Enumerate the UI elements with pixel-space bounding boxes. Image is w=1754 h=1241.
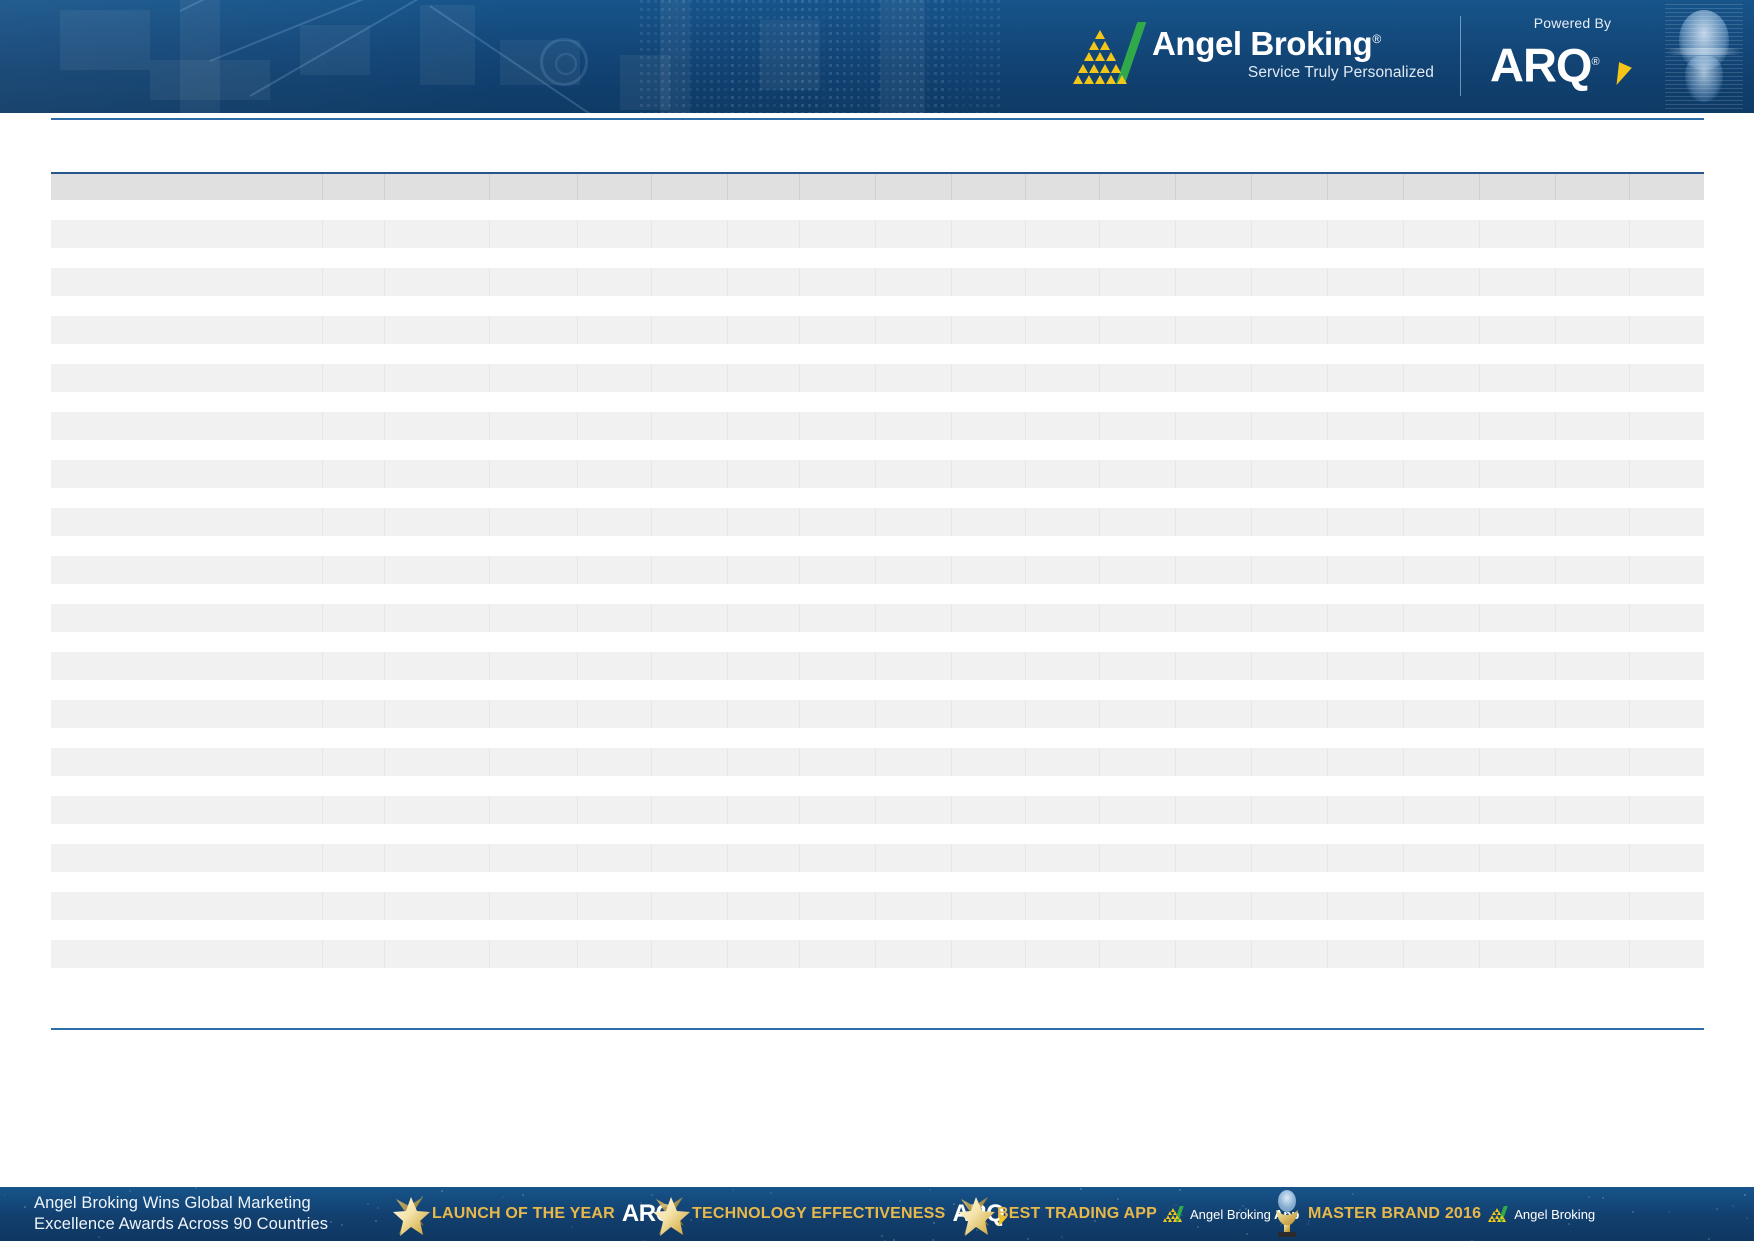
arq-trademark: ® [1591,56,1598,68]
column-divider-8 [951,892,952,920]
column-divider-10 [1099,748,1100,776]
column-divider-16 [1555,748,1556,776]
table-row-gap [51,776,1704,796]
award-badge: MASTER BRAND 2016Angel Broking [1268,1187,1440,1241]
column-divider-7 [875,796,876,824]
column-divider-13 [1327,556,1328,584]
column-divider-12 [1251,460,1252,488]
column-divider-5 [727,748,728,776]
column-divider-17 [1629,892,1630,920]
column-divider-7 [875,844,876,872]
column-divider-17 [1629,844,1630,872]
arq-block: Powered By ARQ® [1490,14,1670,92]
column-divider-11 [1175,220,1176,248]
column-divider-8 [951,940,952,968]
column-divider-6 [799,748,800,776]
column-divider-10 [1099,460,1100,488]
column-divider-3 [577,364,578,392]
column-divider-12 [1251,174,1252,200]
column-divider-17 [1629,652,1630,680]
column-divider-12 [1251,220,1252,248]
column-divider-0 [322,604,323,632]
table-row[interactable] [51,556,1704,584]
logo-triangle-unit [1095,75,1105,84]
logo-triangle-unit [1106,75,1116,84]
column-divider-10 [1099,892,1100,920]
column-divider-9 [1025,220,1026,248]
column-divider-11 [1175,508,1176,536]
column-divider-3 [577,412,578,440]
column-divider-9 [1025,604,1026,632]
column-divider-6 [799,508,800,536]
column-divider-12 [1251,748,1252,776]
column-divider-9 [1025,700,1026,728]
column-divider-8 [951,556,952,584]
column-divider-9 [1025,748,1026,776]
column-divider-4 [651,508,652,536]
column-divider-5 [727,796,728,824]
table-row-gap [51,200,1704,220]
column-divider-5 [727,220,728,248]
column-divider-9 [1025,844,1026,872]
column-divider-12 [1251,844,1252,872]
column-divider-9 [1025,316,1026,344]
column-divider-14 [1403,268,1404,296]
table-row-gap [51,488,1704,508]
column-divider-1 [384,748,385,776]
column-divider-17 [1629,796,1630,824]
column-divider-16 [1555,316,1556,344]
column-divider-2 [489,364,490,392]
column-divider-16 [1555,796,1556,824]
column-divider-9 [1025,508,1026,536]
column-divider-10 [1099,316,1100,344]
column-divider-4 [651,174,652,200]
column-divider-17 [1629,174,1630,200]
column-divider-12 [1251,316,1252,344]
header-circle-decoration [540,38,588,86]
column-divider-12 [1251,940,1252,968]
angel-broking-triangle-logo [1080,22,1142,82]
column-divider-3 [577,460,578,488]
column-divider-11 [1175,652,1176,680]
column-divider-0 [322,556,323,584]
column-divider-7 [875,364,876,392]
column-divider-16 [1555,412,1556,440]
column-divider-10 [1099,652,1100,680]
column-divider-14 [1403,796,1404,824]
table-row-gap [51,584,1704,604]
column-divider-9 [1025,174,1026,200]
column-divider-8 [951,268,952,296]
column-divider-13 [1327,268,1328,296]
column-divider-6 [799,220,800,248]
column-divider-9 [1025,652,1026,680]
table-row[interactable] [51,652,1704,680]
column-divider-4 [651,412,652,440]
brand-tagline: Service Truly Personalized [1152,63,1434,83]
column-divider-7 [875,268,876,296]
column-divider-3 [577,652,578,680]
footer-headline: Angel Broking Wins Global Marketing Exce… [34,1193,374,1235]
column-divider-16 [1555,892,1556,920]
column-divider-5 [727,412,728,440]
column-divider-13 [1327,940,1328,968]
column-divider-6 [799,364,800,392]
column-divider-16 [1555,844,1556,872]
column-divider-7 [875,700,876,728]
column-divider-12 [1251,604,1252,632]
column-divider-2 [489,940,490,968]
column-divider-15 [1479,174,1480,200]
table-row-gap [51,344,1704,364]
column-divider-0 [322,364,323,392]
logo-triangle-unit [1117,75,1127,84]
column-divider-8 [951,604,952,632]
column-divider-15 [1479,748,1480,776]
column-divider-6 [799,174,800,200]
column-divider-0 [322,796,323,824]
column-divider-5 [727,364,728,392]
column-divider-0 [322,316,323,344]
column-divider-7 [875,748,876,776]
table-row[interactable] [51,748,1704,776]
column-divider-0 [322,412,323,440]
column-divider-6 [799,796,800,824]
brand-name: Angel Broking® [1152,20,1452,63]
column-divider-17 [1629,940,1630,968]
mini-logo-triangle-unit [1168,1218,1172,1222]
column-divider-12 [1251,892,1252,920]
mini-logo-triangle-unit [1178,1218,1182,1222]
column-divider-13 [1327,748,1328,776]
table-row[interactable] [51,508,1704,536]
column-divider-8 [951,460,952,488]
table-row[interactable] [51,700,1704,728]
column-divider-8 [951,174,952,200]
column-divider-1 [384,364,385,392]
column-divider-16 [1555,364,1556,392]
column-divider-4 [651,316,652,344]
column-divider-17 [1629,220,1630,248]
column-divider-12 [1251,412,1252,440]
column-divider-1 [384,892,385,920]
column-divider-2 [489,796,490,824]
column-divider-16 [1555,940,1556,968]
table-row-gap [51,248,1704,268]
column-divider-0 [322,892,323,920]
column-divider-9 [1025,364,1026,392]
column-divider-11 [1175,412,1176,440]
column-divider-10 [1099,412,1100,440]
column-divider-11 [1175,268,1176,296]
logo-triangle-unit [1100,64,1110,73]
column-divider-14 [1403,220,1404,248]
column-divider-15 [1479,220,1480,248]
column-divider-3 [577,748,578,776]
column-divider-14 [1403,748,1404,776]
column-divider-14 [1403,556,1404,584]
column-divider-12 [1251,508,1252,536]
column-divider-2 [489,174,490,200]
column-divider-6 [799,940,800,968]
column-divider-4 [651,220,652,248]
column-divider-4 [651,700,652,728]
column-divider-14 [1403,940,1404,968]
column-divider-14 [1403,412,1404,440]
column-divider-9 [1025,940,1026,968]
column-divider-1 [384,412,385,440]
column-divider-3 [577,940,578,968]
column-divider-4 [651,796,652,824]
column-divider-16 [1555,556,1556,584]
logo-triangle-unit [1073,75,1083,84]
gold-star-icon [955,1192,995,1236]
column-divider-4 [651,652,652,680]
column-divider-0 [322,748,323,776]
header-banner: Angel Broking® Service Truly Personalize… [0,0,1754,113]
column-divider-9 [1025,796,1026,824]
logo-triangle-unit [1106,52,1116,61]
column-divider-11 [1175,700,1176,728]
column-divider-1 [384,604,385,632]
column-divider-13 [1327,652,1328,680]
column-divider-11 [1175,460,1176,488]
column-divider-0 [322,700,323,728]
column-divider-8 [951,844,952,872]
table-bottom-rule [51,1028,1704,1030]
column-divider-0 [322,844,323,872]
column-divider-1 [384,940,385,968]
column-divider-2 [489,508,490,536]
logo-triangle-unit [1078,64,1088,73]
column-divider-13 [1327,174,1328,200]
column-divider-1 [384,460,385,488]
column-divider-2 [489,556,490,584]
column-divider-6 [799,604,800,632]
table-top-rule [51,118,1704,120]
column-divider-14 [1403,508,1404,536]
column-divider-11 [1175,364,1176,392]
column-divider-5 [727,700,728,728]
column-divider-2 [489,844,490,872]
column-divider-7 [875,508,876,536]
column-divider-5 [727,652,728,680]
award-badge-title: TECHNOLOGY EFFECTIVENESS [692,1205,945,1223]
column-divider-7 [875,556,876,584]
column-divider-17 [1629,460,1630,488]
table-row-gap [51,872,1704,892]
logo-triangle-unit [1100,41,1110,50]
column-divider-11 [1175,556,1176,584]
column-divider-7 [875,174,876,200]
column-divider-7 [875,604,876,632]
column-divider-10 [1099,174,1100,200]
table-row[interactable] [51,892,1704,920]
column-divider-11 [1175,748,1176,776]
column-divider-9 [1025,460,1026,488]
column-divider-1 [384,796,385,824]
table-row-gap [51,824,1704,844]
column-divider-12 [1251,364,1252,392]
column-divider-15 [1479,412,1480,440]
column-divider-12 [1251,268,1252,296]
mini-logo-triangle-unit [1502,1218,1506,1222]
table-row[interactable] [51,604,1704,632]
logo-triangle-unit [1089,64,1099,73]
column-divider-13 [1327,796,1328,824]
column-divider-0 [322,652,323,680]
powered-by-label: Powered By [1490,14,1655,32]
column-divider-14 [1403,652,1404,680]
gold-trophy-icon [1268,1190,1306,1238]
column-divider-8 [951,364,952,392]
data-table[interactable] [51,172,1704,968]
table-row[interactable] [51,268,1704,296]
column-divider-1 [384,508,385,536]
header-vertical-divider [1460,16,1461,96]
column-divider-15 [1479,508,1480,536]
column-divider-10 [1099,604,1100,632]
column-divider-17 [1629,316,1630,344]
column-divider-2 [489,700,490,728]
column-divider-11 [1175,796,1176,824]
mini-logo-triangle-unit [1488,1218,1492,1222]
column-divider-11 [1175,940,1176,968]
column-divider-10 [1099,844,1100,872]
column-divider-15 [1479,940,1480,968]
table-row-gap [51,296,1704,316]
column-divider-10 [1099,268,1100,296]
table-row-gap [51,632,1704,652]
mini-logo-triangle-unit [1173,1218,1177,1222]
table-body[interactable] [51,200,1704,968]
column-divider-1 [384,268,385,296]
logo-triangle-unit [1111,64,1121,73]
column-divider-15 [1479,460,1480,488]
table-row[interactable] [51,364,1704,392]
column-divider-3 [577,796,578,824]
column-divider-11 [1175,604,1176,632]
column-divider-14 [1403,174,1404,200]
column-divider-5 [727,174,728,200]
column-divider-15 [1479,316,1480,344]
column-divider-16 [1555,700,1556,728]
table-row-gap [51,920,1704,940]
column-divider-15 [1479,652,1480,680]
column-divider-14 [1403,844,1404,872]
angel-broking-mini-logo [1490,1206,1510,1222]
column-divider-8 [951,508,952,536]
column-divider-3 [577,892,578,920]
column-divider-5 [727,460,728,488]
column-divider-6 [799,268,800,296]
column-divider-0 [322,220,323,248]
column-divider-5 [727,508,728,536]
column-divider-8 [951,652,952,680]
award-badge: LAUNCH OF THE YEARARQ [390,1187,558,1241]
column-divider-5 [727,604,728,632]
column-divider-11 [1175,174,1176,200]
column-divider-11 [1175,892,1176,920]
award-badge: BEST TRADING APPAngel Broking App [955,1187,1115,1241]
column-divider-13 [1327,604,1328,632]
column-divider-2 [489,604,490,632]
column-divider-0 [322,174,323,200]
column-divider-10 [1099,220,1100,248]
column-divider-0 [322,940,323,968]
table-row[interactable] [51,316,1704,344]
content-sheet [0,113,1754,1187]
table-header-row[interactable] [51,172,1704,200]
column-divider-4 [651,844,652,872]
column-divider-2 [489,412,490,440]
column-divider-15 [1479,604,1480,632]
column-divider-2 [489,316,490,344]
table-row[interactable] [51,220,1704,248]
column-divider-2 [489,892,490,920]
ai-head-scanlines [1665,4,1743,110]
column-divider-12 [1251,556,1252,584]
column-divider-4 [651,268,652,296]
column-divider-5 [727,268,728,296]
column-divider-7 [875,220,876,248]
column-divider-10 [1099,700,1100,728]
column-divider-3 [577,268,578,296]
table-row[interactable] [51,940,1704,968]
table-row[interactable] [51,460,1704,488]
column-divider-5 [727,940,728,968]
gold-star-icon [390,1192,430,1236]
column-divider-4 [651,364,652,392]
column-divider-8 [951,700,952,728]
column-divider-5 [727,892,728,920]
angel-broking-mini-logo [1166,1206,1186,1222]
table-row[interactable] [51,796,1704,824]
table-row[interactable] [51,412,1704,440]
column-divider-3 [577,556,578,584]
award-badge-title: BEST TRADING APP [997,1205,1157,1223]
ai-head-graphic [1665,4,1743,110]
column-divider-7 [875,460,876,488]
column-divider-14 [1403,460,1404,488]
column-divider-13 [1327,412,1328,440]
column-divider-17 [1629,700,1630,728]
column-divider-12 [1251,700,1252,728]
arq-logo: ARQ® [1490,34,1658,92]
table-row-gap [51,728,1704,748]
column-divider-13 [1327,460,1328,488]
table-row[interactable] [51,844,1704,872]
logo-triangle-unit [1095,30,1105,39]
column-divider-13 [1327,220,1328,248]
column-divider-16 [1555,652,1556,680]
column-divider-17 [1629,364,1630,392]
column-divider-14 [1403,316,1404,344]
award-badge-title: LAUNCH OF THE YEAR [432,1205,615,1223]
column-divider-12 [1251,796,1252,824]
column-divider-3 [577,604,578,632]
column-divider-4 [651,556,652,584]
column-divider-9 [1025,412,1026,440]
column-divider-5 [727,556,728,584]
column-divider-6 [799,652,800,680]
gold-star-icon [650,1192,690,1236]
column-divider-1 [384,556,385,584]
column-divider-13 [1327,844,1328,872]
column-divider-16 [1555,508,1556,536]
column-divider-1 [384,652,385,680]
